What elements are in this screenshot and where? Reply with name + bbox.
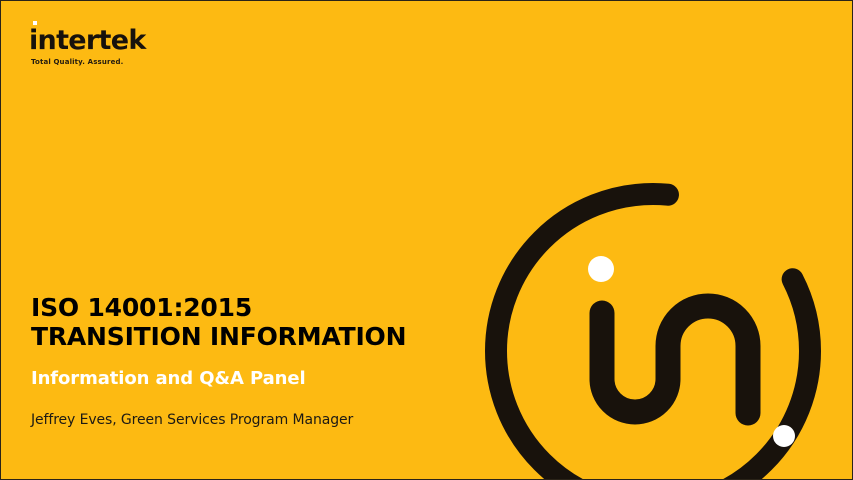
presenter-byline: Jeffrey Eves, Green Services Program Man… — [31, 411, 471, 429]
page-title-line-1: ISO 14001:2015 — [31, 293, 471, 322]
i-dot-icon — [33, 21, 37, 25]
brand-tagline: Total Quality. Assured. — [31, 59, 249, 66]
intertek-in-circle-logo-mark — [471, 166, 846, 480]
intertek-brand-logo: intertek Total Quality. Assured. — [29, 27, 249, 66]
slide-text-block: ISO 14001:2015 TRANSITION INFORMATION In… — [31, 293, 471, 429]
page-title-line-2: TRANSITION INFORMATION — [31, 322, 471, 351]
slide-subtitle: Information and Q&A Panel — [31, 368, 471, 390]
intertek-wordmark: intertek — [29, 27, 249, 54]
presentation-slide: intertek Total Quality. Assured. ISO 140… — [0, 0, 853, 480]
logo-ring-icon — [496, 194, 810, 480]
in-monogram-icon — [602, 306, 748, 413]
intertek-wordmark-text: intertek — [29, 25, 146, 56]
ring-gap-dot-icon — [773, 425, 795, 447]
monogram-upper-dot-icon — [588, 256, 614, 282]
